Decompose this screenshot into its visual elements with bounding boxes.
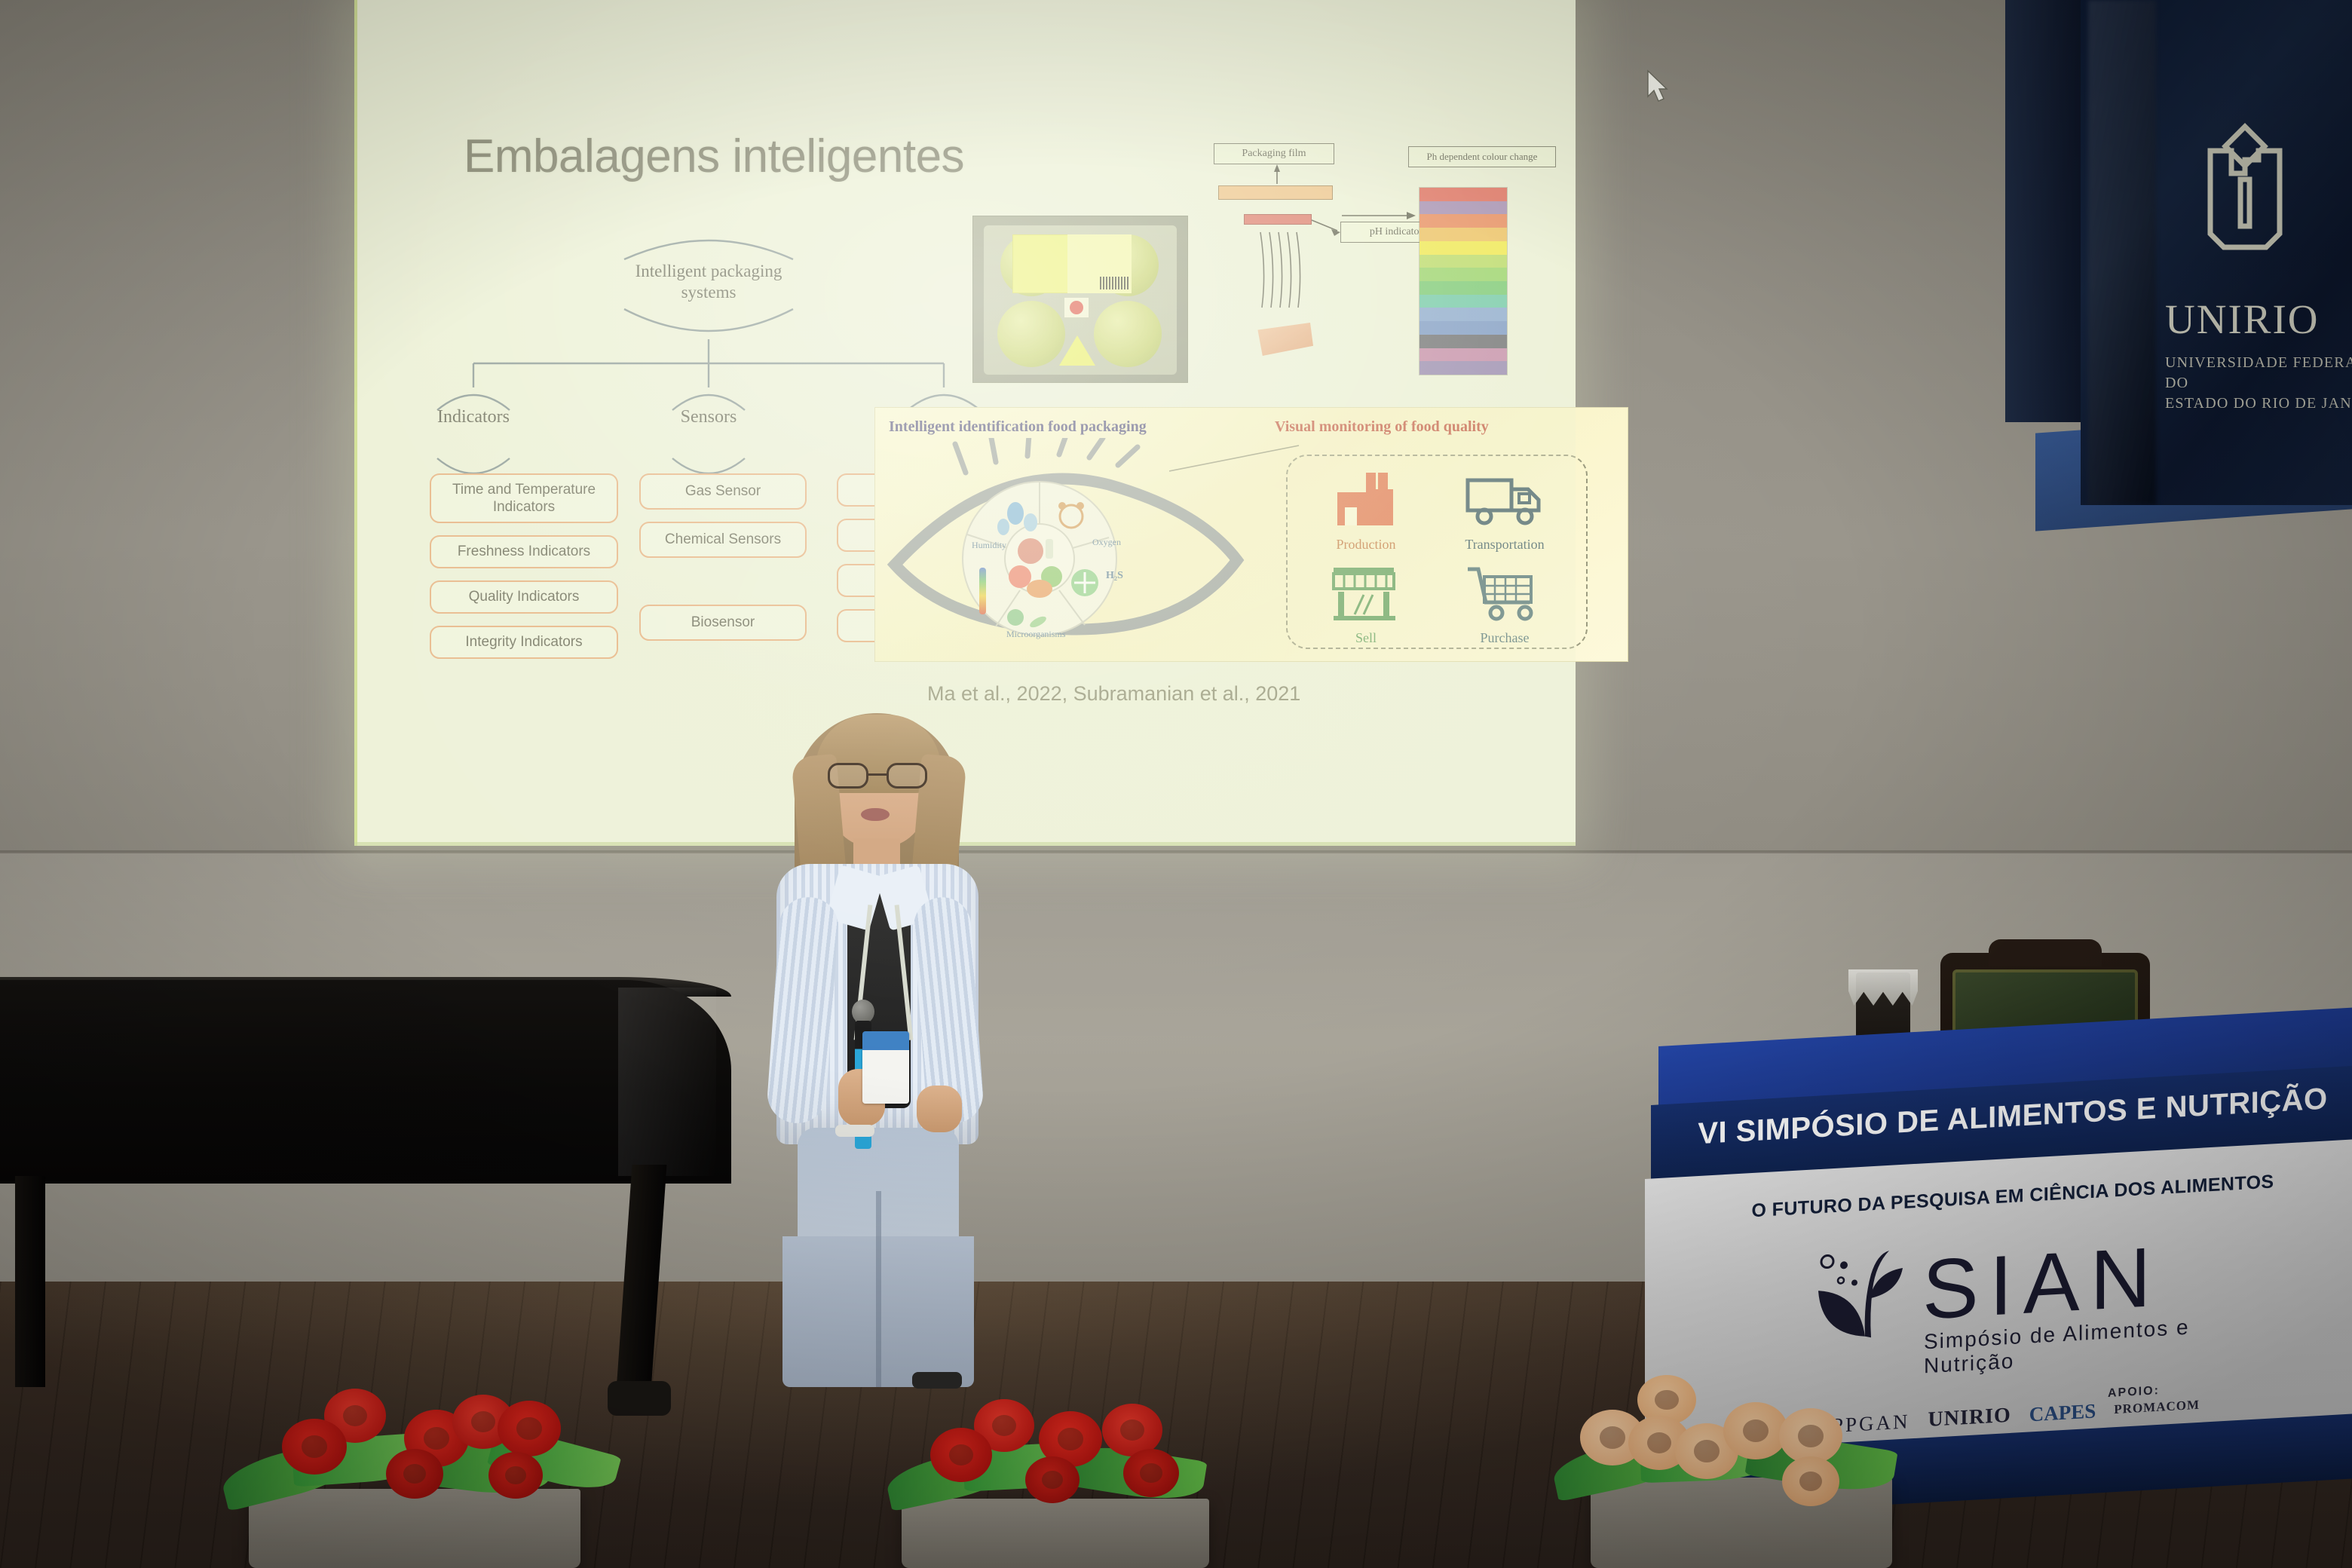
box-gas-sensor: Gas Sensor <box>639 473 807 510</box>
barcode-icon <box>1100 277 1130 289</box>
gerbera-bloom <box>1782 1456 1839 1506</box>
conference-badge <box>862 1031 909 1104</box>
gerbera-bloom <box>930 1428 992 1482</box>
sponsor-unirio: UNIRIO <box>1928 1404 2011 1432</box>
mouth <box>861 808 890 821</box>
box-biosensor: Biosensor <box>639 605 807 641</box>
eye-heading-left: Intelligent identification food packagin… <box>889 418 1147 436</box>
chair-crown <box>1989 939 2102 966</box>
factory-icon <box>1331 470 1401 528</box>
ph-indicator-bar <box>1244 214 1312 225</box>
eye-figure-card: Intelligent identification food packagin… <box>874 407 1628 662</box>
sensors-box-column: Gas Sensor Chemical Sensors Biosensor <box>639 473 807 653</box>
glasses-bridge <box>868 773 887 776</box>
gerbera-bloom <box>282 1419 347 1475</box>
chain-cell-production: Production <box>1298 470 1434 553</box>
gerbera-bloom <box>1025 1456 1080 1503</box>
gerbera-bloom <box>1123 1449 1179 1497</box>
wrist-bracelet <box>835 1125 874 1137</box>
gerbera-bloom <box>498 1401 561 1456</box>
presenter <box>769 709 988 1387</box>
sian-logo: SIAN Simpósio de Alimentos e Nutrição <box>1794 1222 2262 1384</box>
hand-right <box>917 1086 962 1132</box>
svg-text:Microorganisms: Microorganisms <box>1006 629 1066 639</box>
tree-root-label: Intelligent packaging systems <box>603 261 814 303</box>
mouse-pointer-icon[interactable] <box>1645 69 1671 104</box>
tree-branch-indicators: Indicators <box>387 407 560 427</box>
sponsor-promacom: PROMACOM <box>2114 1398 2200 1417</box>
glasses-right-lens <box>887 763 927 789</box>
fruit-package-photo <box>972 216 1188 383</box>
glasses-icon <box>828 763 927 789</box>
box-chemical-sensors: Chemical Sensors <box>639 522 807 558</box>
flower-arrangement-right <box>1559 1366 1913 1509</box>
chain-label-production: Production <box>1298 537 1434 553</box>
unirio-wordmark: UNIRIO <box>2165 296 2319 343</box>
truck-icon <box>1465 470 1545 528</box>
apple-3 <box>997 301 1065 367</box>
supply-chain-box: Production Transportation <box>1286 455 1588 649</box>
triangle-indicator <box>1059 335 1095 366</box>
chain-label-purchase: Purchase <box>1437 630 1573 646</box>
chain-cell-sell: Sell <box>1298 563 1434 646</box>
gerbera-bloom <box>488 1452 543 1499</box>
sponsor-capes: CAPES <box>2029 1399 2096 1426</box>
chain-cell-transportation: Transportation <box>1437 470 1573 553</box>
denim-inseam <box>876 1191 881 1387</box>
svg-text:Humidity: Humidity <box>972 540 1006 550</box>
unirio-crest-icon <box>2177 121 2313 279</box>
piano-highlight <box>618 988 716 1176</box>
unirio-subtitle: UNIVERSIDADE FEDERAL DO ESTADO DO RIO DE… <box>2165 353 2352 414</box>
chain-cell-purchase: Purchase <box>1437 563 1573 646</box>
shopping-cart-icon <box>1465 563 1545 622</box>
svg-text:Oxygen: Oxygen <box>1092 537 1121 547</box>
unirio-banner: UNIRIO UNIVERSIDADE FEDERAL DO ESTADO DO… <box>2081 0 2352 505</box>
eye-to-chain-connector <box>1169 444 1305 474</box>
tree-root-line1: Intelligent packaging <box>603 261 814 282</box>
indicators-box-column: Time and Temperature Indicators Freshnes… <box>430 473 618 671</box>
tree-branch-sensors: Sensors <box>622 407 795 427</box>
apple-4 <box>1094 301 1162 367</box>
box-quality-indicators: Quality Indicators <box>430 580 618 614</box>
unirio-subtitle-line2: ESTADO DO RIO DE JANEIRO <box>2165 394 2352 414</box>
sprout-leaf-icon <box>1811 1246 1916 1352</box>
piano-caster <box>608 1381 671 1416</box>
banner-fold-highlight <box>2088 0 2156 505</box>
tree-root-line2: systems <box>603 282 814 303</box>
colour-change-label: Ph dependent colour change <box>1408 146 1556 167</box>
store-icon <box>1329 563 1403 622</box>
freshness-dot-indicator <box>1064 298 1089 317</box>
slide-citation: Ma et al., 2022, Subramanian et al., 202… <box>927 682 1300 706</box>
chain-label-sell: Sell <box>1298 630 1434 646</box>
gerbera-bloom <box>1779 1408 1842 1464</box>
box-freshness-indicators: Freshness Indicators <box>430 535 618 568</box>
piano-leg-left <box>15 1176 45 1387</box>
box-time-temperature-indicators: Time and Temperature Indicators <box>430 473 618 523</box>
flower-arrangement-center <box>884 1386 1238 1521</box>
wall-seam <box>0 850 2352 853</box>
auditorium-scene: Embalagens inteligentes <box>0 0 2352 1568</box>
glasses-left-lens <box>828 763 868 789</box>
gerbera-bloom <box>1723 1402 1788 1459</box>
chain-label-transportation: Transportation <box>1437 537 1573 553</box>
unirio-subtitle-line1: UNIVERSIDADE FEDERAL DO <box>2165 353 2352 394</box>
slide-title: Embalagens inteligentes <box>464 130 964 183</box>
flower-arrangement-left <box>226 1380 603 1515</box>
eye-heading-right: Visual monitoring of food quality <box>1275 418 1489 436</box>
ph-indicator-figure: Packaging film pH indicator <box>1214 136 1560 392</box>
gerbera-bloom <box>386 1449 443 1499</box>
ph-colour-strip <box>1419 187 1508 375</box>
svg-text:H₂S: H₂S <box>1106 570 1123 581</box>
box-integrity-indicators: Integrity Indicators <box>430 626 618 659</box>
